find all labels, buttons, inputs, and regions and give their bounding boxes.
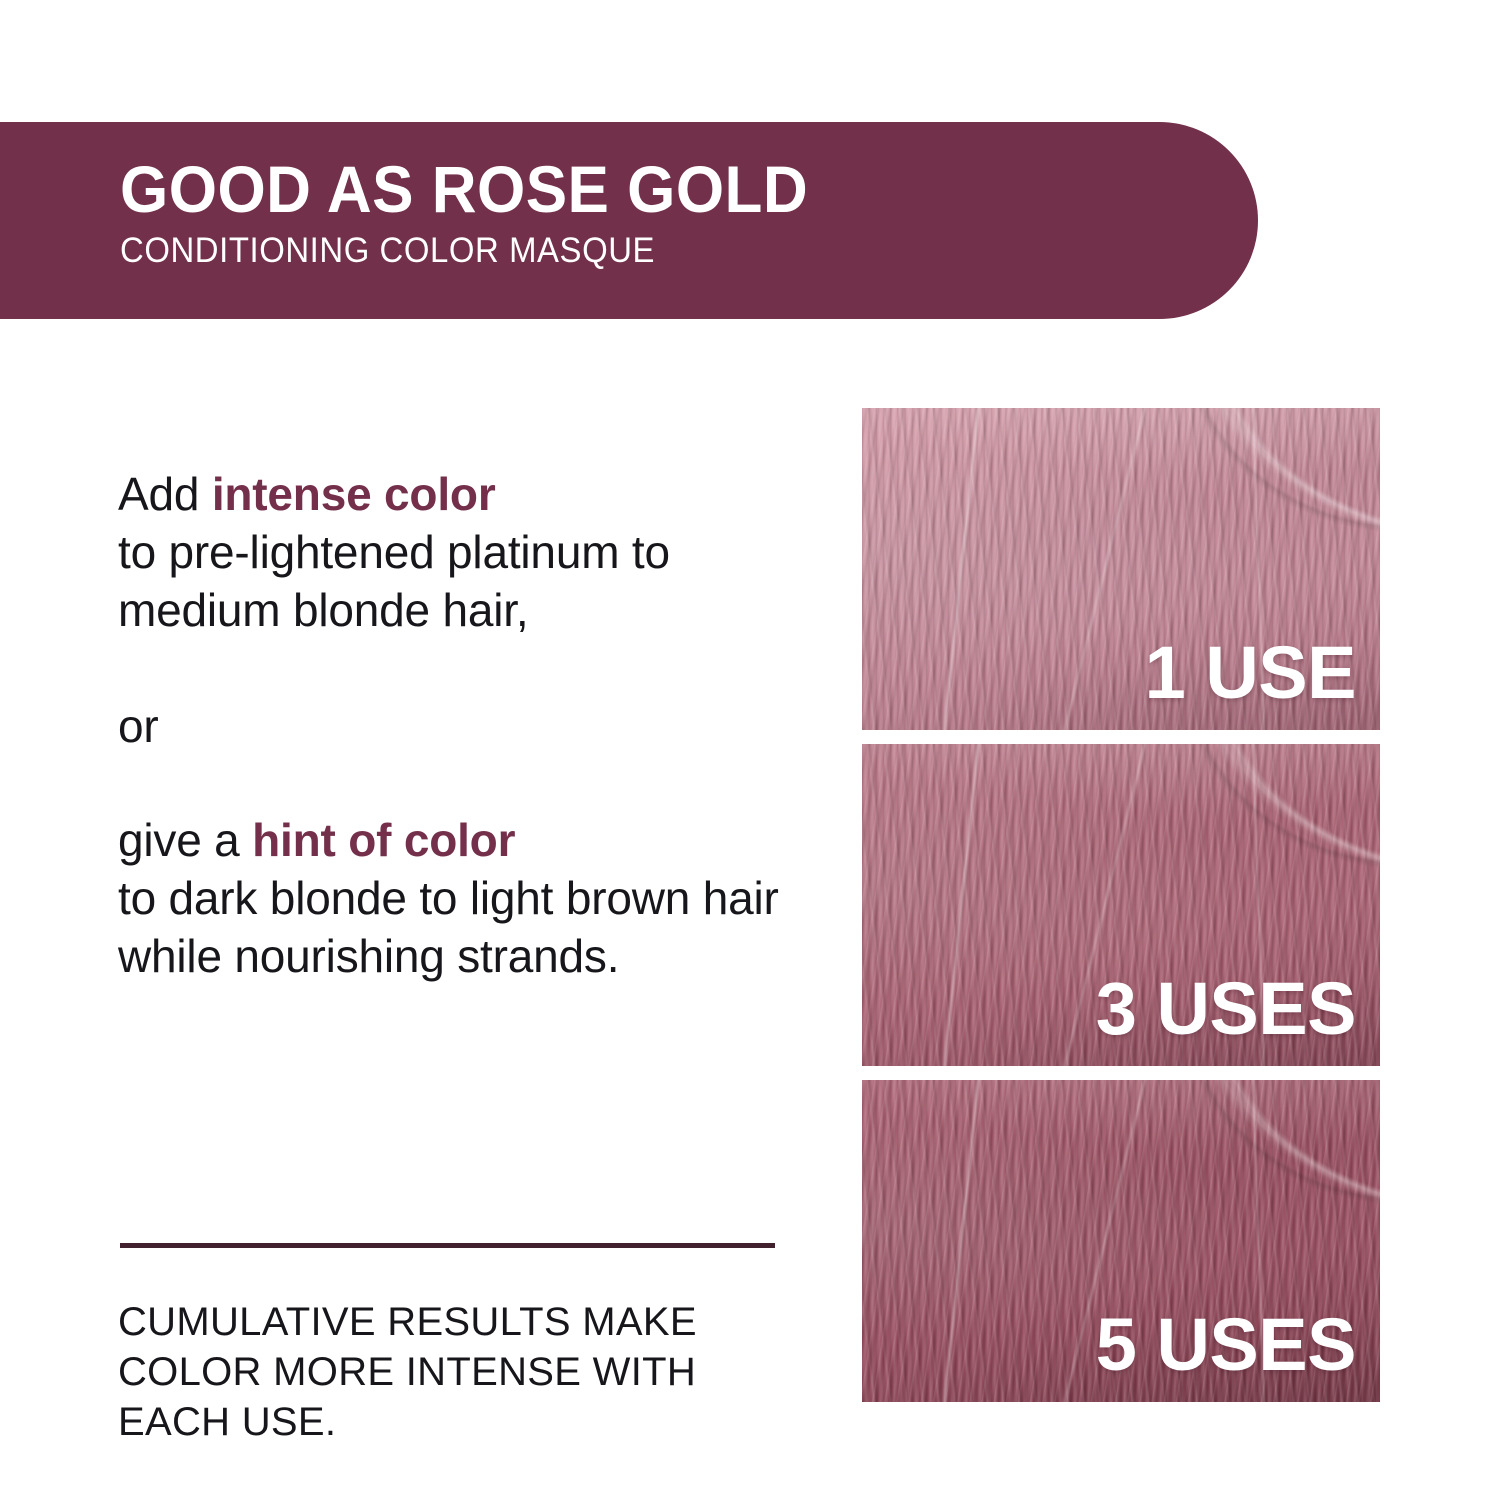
hair-swatch-stack: 1 USE 3 USES 5 USES (862, 408, 1380, 1402)
page-title: GOOD AS ROSE GOLD (120, 152, 808, 226)
swatch-label-1-use: 1 USE (1145, 634, 1356, 712)
hair-swatch-1-use: 1 USE (862, 408, 1380, 730)
footer-note: CUMULATIVE RESULTS MAKE COLOR MORE INTEN… (118, 1297, 818, 1447)
copy-column: Add intense color to pre-lightened plati… (118, 465, 818, 985)
hair-swatch-3-uses: 3 USES (862, 744, 1380, 1066)
accent-hint-of-color: hint of color (252, 814, 515, 866)
header-text-block: GOOD AS ROSE GOLD CONDITIONING COLOR MAS… (120, 152, 852, 272)
connector-or: or (118, 697, 818, 755)
paragraph-hint-of-color: give a hint of color to dark blonde to l… (118, 811, 818, 985)
swatch-label-5-uses: 5 USES (1096, 1306, 1356, 1384)
accent-intense-color: intense color (212, 468, 496, 520)
paragraph-intense-color: Add intense color to pre-lightened plati… (118, 465, 818, 639)
paragraph-two-rest: to dark blonde to light brown hair while… (118, 872, 779, 982)
paragraph-one-lead: Add (118, 468, 212, 520)
swatch-label-3-uses: 3 USES (1096, 970, 1356, 1048)
paragraph-two-lead: give a (118, 814, 252, 866)
header-banner: GOOD AS ROSE GOLD CONDITIONING COLOR MAS… (0, 122, 1258, 319)
page-subtitle: CONDITIONING COLOR MASQUE (120, 230, 808, 272)
section-divider (120, 1243, 775, 1248)
paragraph-one-rest: to pre-lightened platinum to medium blon… (118, 526, 670, 636)
hair-swatch-5-uses: 5 USES (862, 1080, 1380, 1402)
